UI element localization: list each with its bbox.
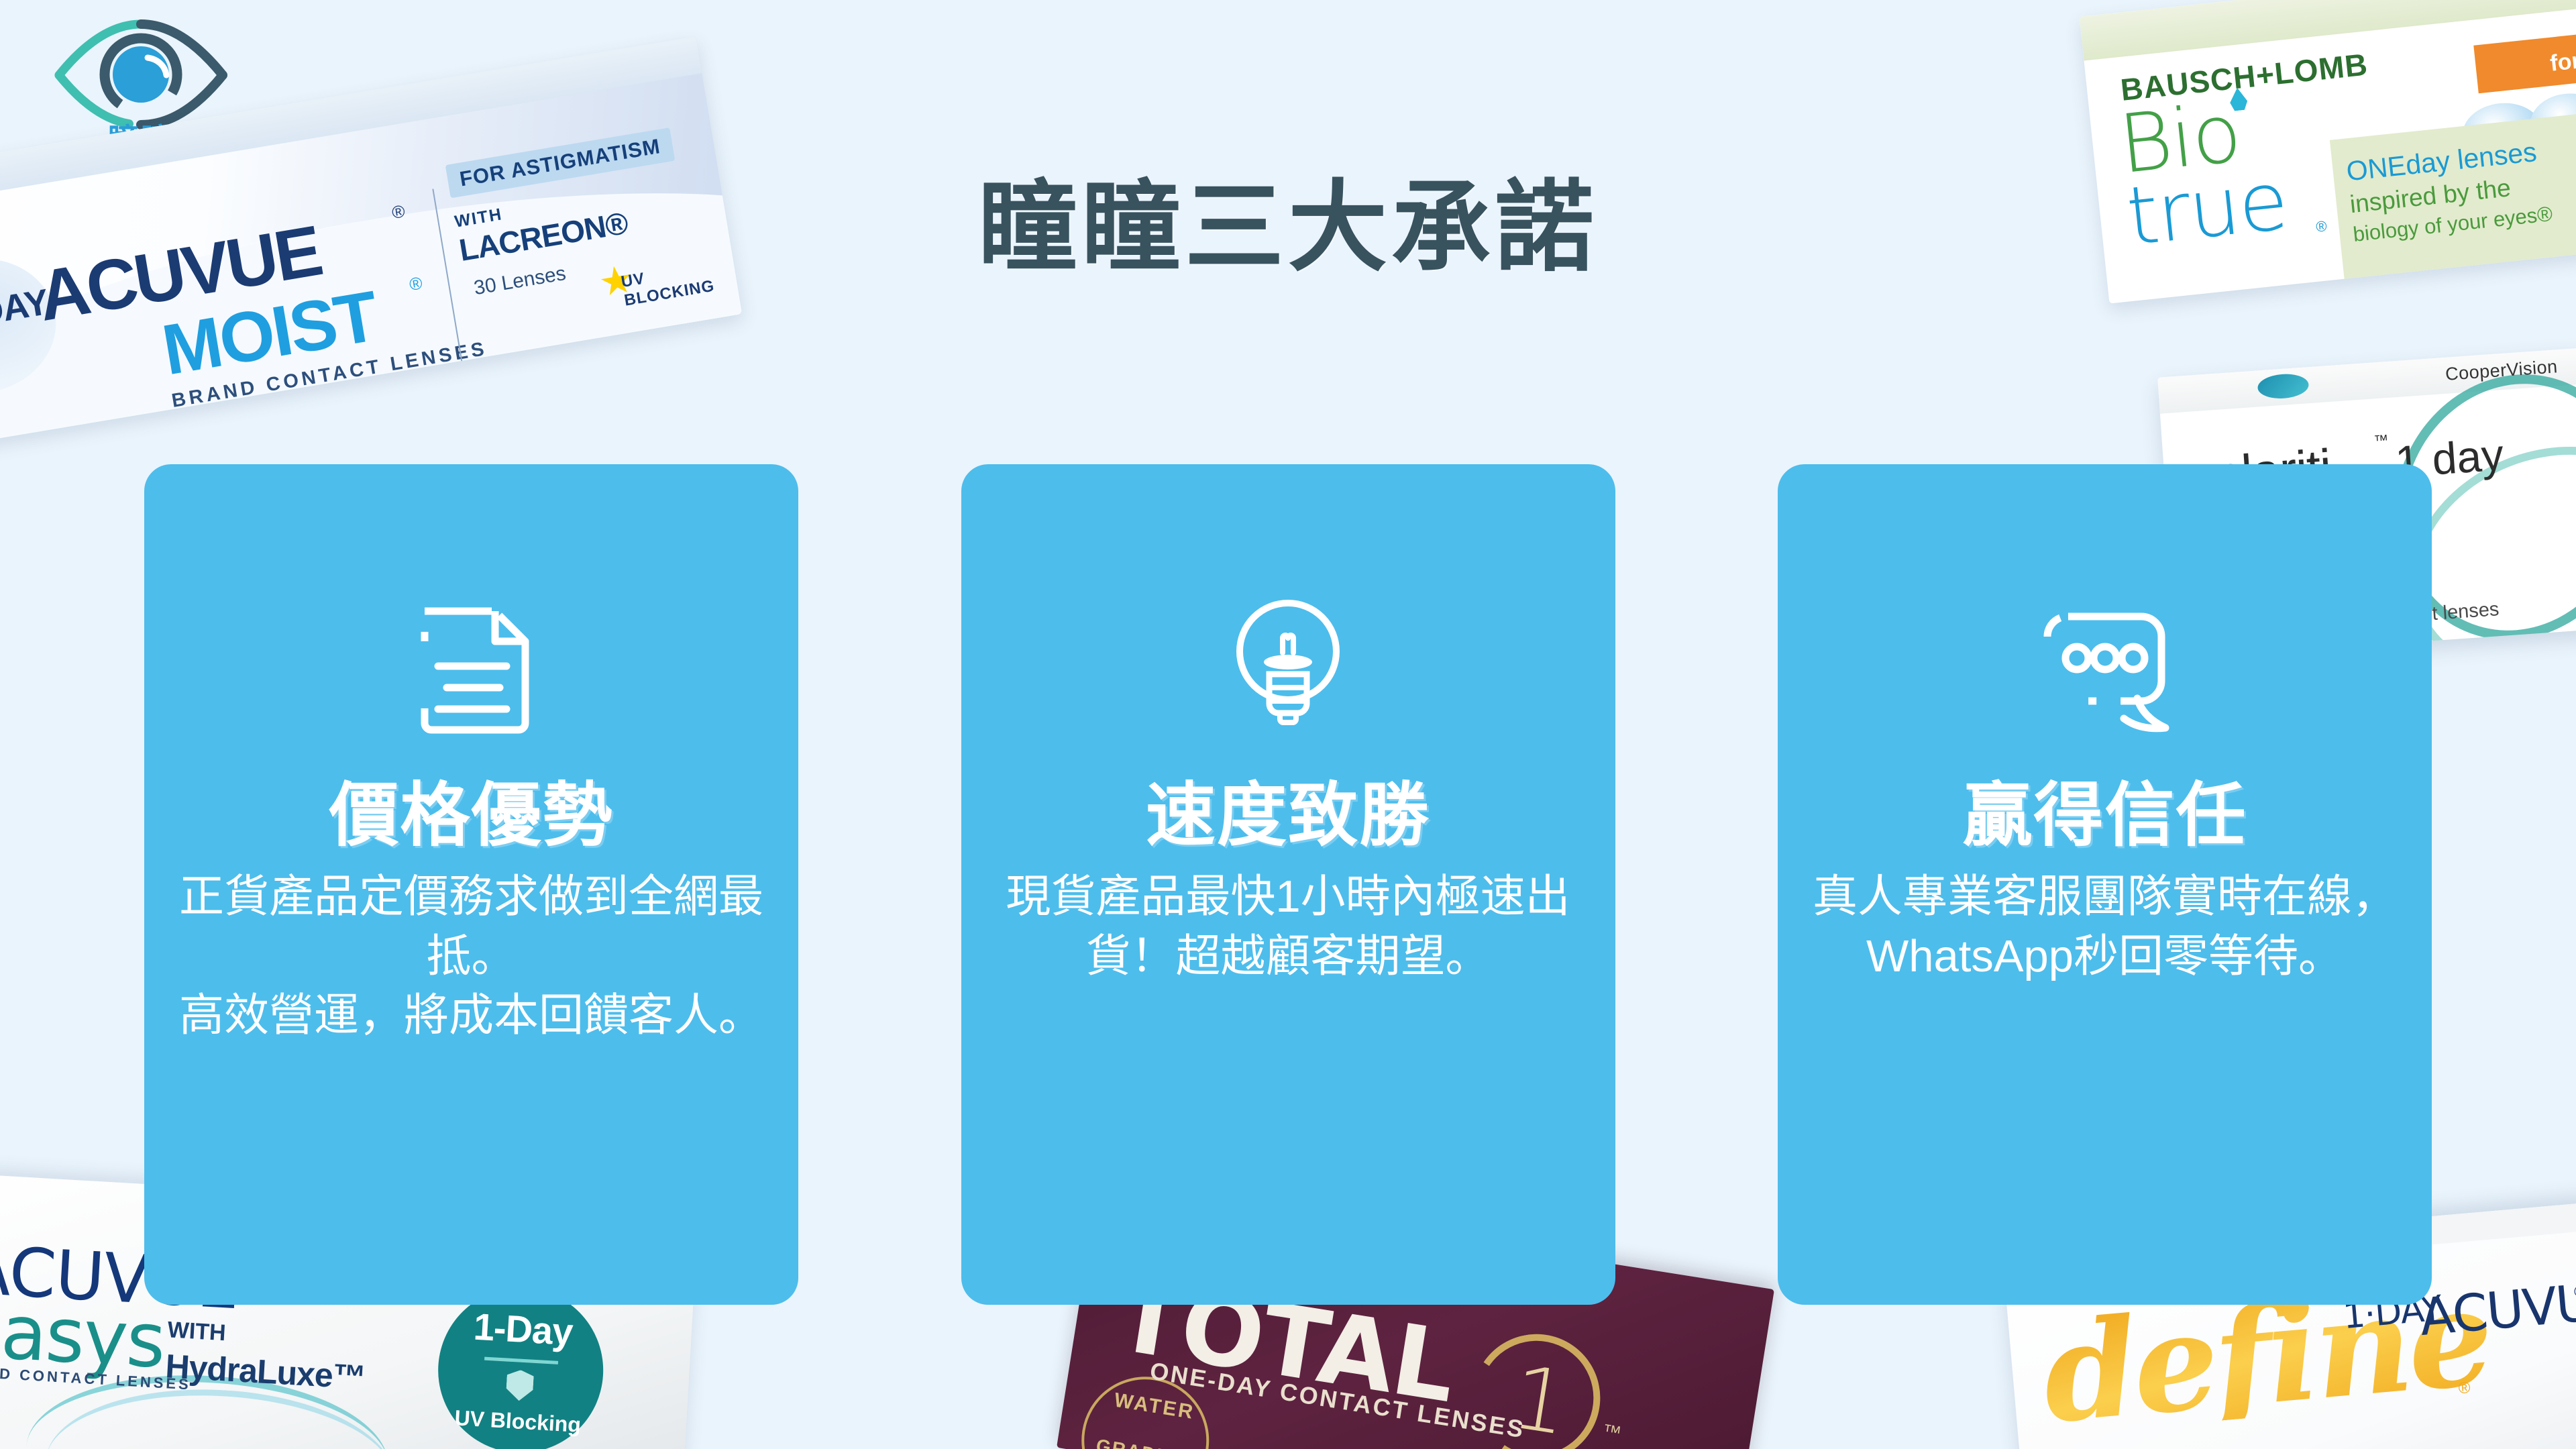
promise-card-title: 贏得信任 (1962, 780, 2247, 853)
promise-card-desc: 正貨產品定價務求做到全網最抵。 高效營運，將成本回饋客人。 (144, 867, 798, 1045)
promo-banner: 1·DAY ACUVUE ® MOIST ® BRAND CONTACT LEN… (0, 0, 2576, 1449)
oasys-with-label: WITH (167, 1317, 227, 1346)
promise-cards: 價格優勢 正貨產品定價務求做到全網最抵。 高效營運，將成本回饋客人。 速度致勝 … (144, 464, 2432, 1305)
oasys-uv-label: UV Blocking (454, 1405, 582, 1438)
promise-card-title: 價格優勢 (329, 780, 613, 853)
shield-icon (506, 1369, 535, 1401)
total1-tm: ™ (1601, 1420, 1623, 1444)
promise-card-speed[interactable]: 速度致勝 現貨產品最快1小時內極速出貨！超越顧客期望。 (961, 464, 1615, 1305)
promise-card-title: 速度致勝 (1146, 780, 1430, 853)
divider (484, 1356, 558, 1364)
define-reg: ® (2458, 1379, 2471, 1398)
document-icon (405, 586, 539, 747)
clariti-tm: ™ (2373, 431, 2390, 449)
promise-card-price[interactable]: 價格優勢 正貨產品定價務求做到全網最抵。 高效營運，將成本回饋客人。 (144, 464, 798, 1305)
biotrue-flag-text: for (2548, 48, 2576, 77)
oasys-modality-circle: 1-Day UV Blocking (433, 1283, 608, 1449)
lightbulb-icon (1221, 586, 1355, 747)
promise-card-desc: 真人專業客服團隊實時在線，WhatsApp秒回零等待。 (1778, 867, 2432, 986)
promise-card-desc: 現貨產品最快1小時內極速出貨！超越顧客期望。 (961, 867, 1615, 986)
page-title: 瞳瞳三大承諾 (0, 146, 2576, 290)
oasys-modality: 1-Day (472, 1304, 574, 1353)
chat-bubble-icon (2033, 586, 2177, 747)
eye-logo-icon (54, 19, 228, 129)
promise-card-trust[interactable]: 贏得信任 真人專業客服團隊實時在線，WhatsApp秒回零等待。 (1778, 464, 2432, 1305)
